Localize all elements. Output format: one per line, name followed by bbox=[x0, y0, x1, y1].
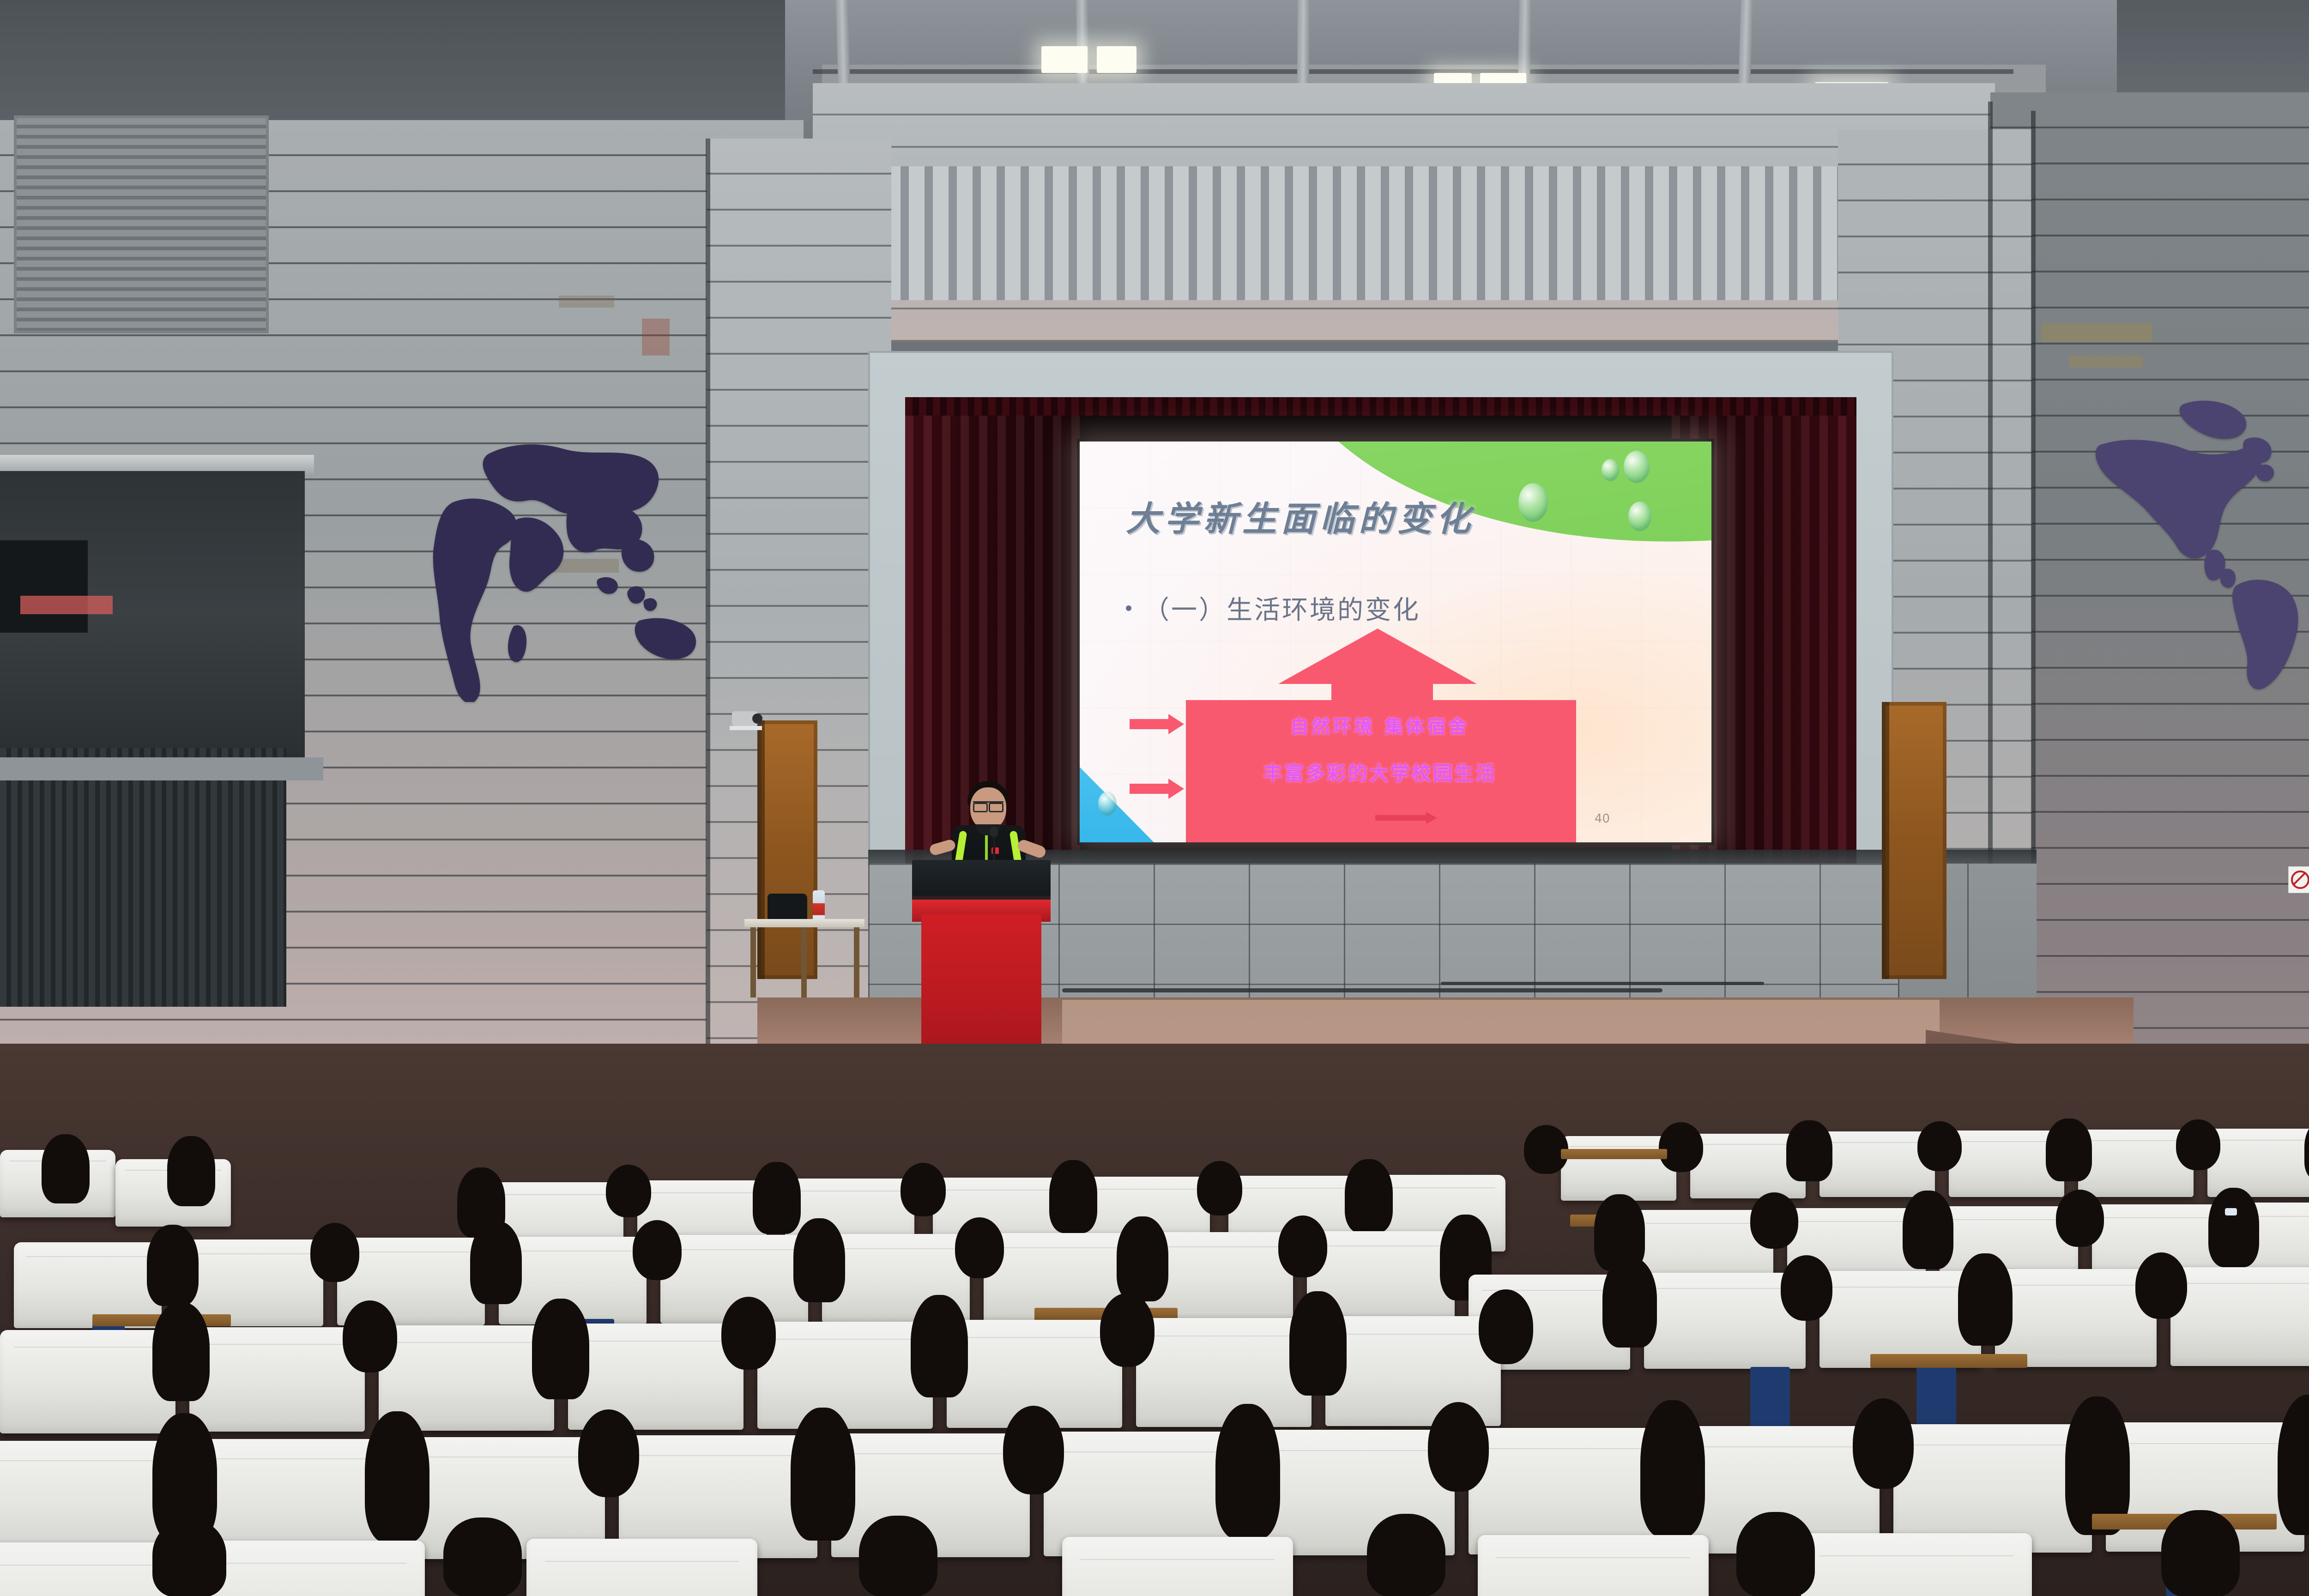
seat bbox=[1062, 1537, 1293, 1596]
world-map-decal-left bbox=[369, 406, 720, 702]
water-drop-icon bbox=[1098, 792, 1117, 816]
audience-head bbox=[606, 1165, 651, 1217]
audience-head bbox=[901, 1163, 946, 1216]
slide-bullet-row: （一）生活环境的变化 bbox=[1126, 589, 1420, 627]
audience-head bbox=[1367, 1514, 1445, 1596]
audience-head bbox=[911, 1295, 968, 1397]
seat bbox=[757, 1322, 933, 1429]
audience-head bbox=[1958, 1253, 2013, 1346]
seat bbox=[1995, 1269, 2157, 1367]
seat bbox=[2170, 1267, 2309, 1366]
auditorium-scene: 大学新生面临的变化 （一）生活环境的变化 自然环境 集体宿舍 丰富多彩的大学校园… bbox=[0, 0, 2309, 1596]
audience-head bbox=[1479, 1289, 1533, 1364]
audience-head bbox=[793, 1218, 845, 1302]
wall-scuff bbox=[2041, 323, 2152, 342]
audience-head bbox=[1289, 1291, 1347, 1396]
audience-head bbox=[532, 1299, 589, 1399]
audience-desk bbox=[1870, 1354, 2027, 1368]
floor-cable bbox=[1062, 988, 1662, 992]
wall-camera-mount bbox=[730, 726, 762, 730]
seat bbox=[189, 1327, 365, 1432]
audience-head bbox=[1100, 1293, 1154, 1367]
audience-head bbox=[1197, 1161, 1242, 1215]
ventilation-slat-band bbox=[813, 166, 1884, 300]
seat bbox=[2207, 1129, 2309, 1197]
fluorescent-light bbox=[1097, 46, 1136, 73]
audience-head bbox=[1917, 1121, 1962, 1171]
seat bbox=[194, 1541, 425, 1596]
callout-line-2: 丰富多彩的大学校园生活 bbox=[1218, 758, 1541, 786]
audience-head bbox=[1750, 1192, 1798, 1249]
callout-text-group: 自然环境 集体宿舍 丰富多彩的大学校园生活 bbox=[1218, 712, 1541, 786]
audience-head bbox=[2161, 1510, 2240, 1596]
audience-head bbox=[1003, 1406, 1064, 1494]
audience-head bbox=[1781, 1255, 1832, 1321]
recess-sill bbox=[0, 757, 323, 780]
audience-head bbox=[443, 1517, 522, 1596]
seat bbox=[1801, 1533, 2032, 1596]
left-arrow-icon-bottom bbox=[1130, 779, 1184, 799]
audience-head bbox=[2176, 1119, 2220, 1170]
audience-head bbox=[1640, 1400, 1705, 1537]
audience-head bbox=[147, 1225, 199, 1306]
audience-head bbox=[2135, 1252, 2187, 1319]
audience-head bbox=[1278, 1215, 1327, 1277]
audience-head bbox=[1786, 1120, 1832, 1181]
left-arrow-icon-top bbox=[1130, 714, 1184, 734]
audience-head bbox=[2056, 1190, 2104, 1247]
audience-head bbox=[1736, 1512, 1815, 1596]
wall-camera-icon bbox=[732, 711, 758, 726]
bottom-arrow-icon bbox=[1375, 812, 1437, 824]
audience-desk bbox=[1561, 1149, 1667, 1159]
glasses-icon bbox=[973, 801, 1003, 810]
stage-curtain-valance bbox=[905, 397, 1856, 416]
audience-head bbox=[42, 1134, 90, 1203]
audience-head bbox=[310, 1223, 359, 1282]
audience-head bbox=[1853, 1398, 1914, 1489]
audience-head bbox=[1117, 1216, 1168, 1301]
audience-head bbox=[470, 1221, 522, 1304]
audience-head bbox=[578, 1409, 639, 1497]
audience-head bbox=[2208, 1188, 2259, 1267]
wall-scuff bbox=[642, 319, 670, 356]
water-drop-icon bbox=[1518, 483, 1548, 522]
microphone-icon bbox=[990, 827, 998, 837]
recess-red-marker bbox=[20, 596, 113, 614]
audience-head bbox=[1903, 1191, 1953, 1269]
fluorescent-light bbox=[1041, 46, 1088, 73]
audience-head bbox=[2046, 1118, 2092, 1181]
slide-page-number: 40 bbox=[1595, 812, 1610, 826]
audience-head bbox=[1215, 1404, 1280, 1539]
audience-head bbox=[343, 1300, 397, 1372]
presentation-slide[interactable]: 大学新生面临的变化 （一）生活环境的变化 自然环境 集体宿舍 丰富多彩的大学校园… bbox=[1080, 441, 1711, 842]
no-smoking-icon bbox=[2291, 871, 2309, 889]
audience-head bbox=[152, 1302, 210, 1401]
callout-line-1: 自然环境 集体宿舍 bbox=[1218, 712, 1541, 738]
audience-head bbox=[167, 1136, 215, 1206]
audience-area bbox=[0, 1044, 2309, 1596]
audience-head bbox=[1428, 1402, 1489, 1492]
wall-scuff bbox=[559, 296, 614, 308]
seat bbox=[0, 1330, 175, 1433]
podium-desktop bbox=[912, 860, 1051, 899]
side-table bbox=[744, 919, 864, 927]
wall-scuff bbox=[2069, 356, 2143, 368]
audience-head bbox=[1659, 1122, 1703, 1172]
bullet-dot-icon bbox=[1126, 605, 1131, 611]
water-drop-icon bbox=[1628, 502, 1651, 531]
seat bbox=[526, 1539, 757, 1596]
audience-head bbox=[365, 1411, 429, 1542]
audience-head bbox=[152, 1519, 226, 1596]
world-map-decal-right bbox=[2046, 388, 2309, 702]
seat bbox=[1819, 1271, 1981, 1368]
door-right[interactable] bbox=[1882, 702, 1946, 979]
roller-shutter bbox=[0, 748, 286, 1007]
slide-bullet-text: （一）生活环境的变化 bbox=[1143, 589, 1420, 627]
audience-head bbox=[1602, 1257, 1657, 1348]
no-smoking-sign: 请勿吸烟 NO SMOKING bbox=[2288, 866, 2309, 893]
water-bottle bbox=[813, 890, 825, 922]
side-table-legs bbox=[750, 927, 859, 997]
audience-head bbox=[859, 1516, 937, 1596]
audience-head bbox=[721, 1297, 776, 1370]
floor-cable bbox=[1441, 982, 1764, 985]
recess-dark-panel bbox=[0, 540, 88, 633]
audience-head bbox=[753, 1162, 801, 1234]
audience-head bbox=[1345, 1159, 1393, 1233]
seat bbox=[1478, 1535, 1709, 1596]
ceiling-band bbox=[813, 69, 2013, 74]
up-arrow-shape bbox=[1278, 629, 1477, 684]
black-bag bbox=[768, 894, 807, 921]
audience-head bbox=[791, 1408, 855, 1541]
audience-head bbox=[633, 1220, 682, 1280]
seat bbox=[1136, 1318, 1312, 1427]
slide-title: 大学新生面临的变化 bbox=[1126, 491, 1475, 541]
audience-head bbox=[955, 1217, 1004, 1278]
water-drop-icon bbox=[1624, 451, 1650, 483]
hair-bow bbox=[2225, 1208, 2237, 1215]
window-blinds bbox=[14, 115, 269, 333]
water-drop-icon bbox=[1602, 459, 1619, 481]
audience-head bbox=[1049, 1160, 1097, 1233]
